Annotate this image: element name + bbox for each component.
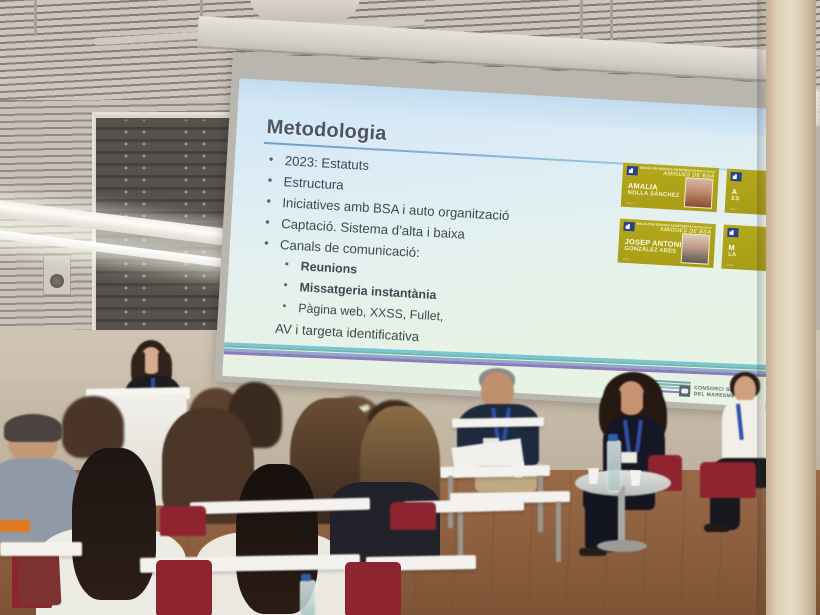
badge-last-name: NOLLA SÁNCHEZ (627, 189, 679, 198)
member-badge: BADALONA SERVEIS ASSISTENCIALS PROGRAMA … (618, 219, 716, 268)
badge-year: 2023 (626, 201, 633, 205)
chair-mid (390, 502, 436, 530)
chair-attendee (700, 462, 756, 498)
slide-bullet-list: 2023: EstatutsEstructuraIniciatives amb … (255, 150, 595, 358)
badge-portrait (681, 233, 711, 265)
badge-portrait (684, 177, 714, 209)
bsa-logo-icon (623, 222, 634, 232)
audience-water-bottle (300, 580, 316, 615)
ceiling-hanger (610, 0, 613, 40)
table-base (597, 540, 647, 552)
structural-column (766, 0, 816, 615)
head (734, 376, 756, 403)
orange-pencil-case (0, 520, 30, 532)
audience-member-front (330, 430, 440, 550)
bsa-logo-icon (627, 166, 638, 176)
bsa-logo-icon (727, 228, 738, 238)
shoe (704, 524, 730, 532)
hair (72, 448, 156, 600)
chair-front (156, 560, 212, 615)
chair-front (345, 562, 401, 615)
desk-front (0, 542, 82, 556)
projection-screen: Metodologia 2023: EstatutsEstructuraInic… (214, 52, 792, 414)
badge-year: 2023 (730, 207, 737, 211)
water-bottle (607, 440, 621, 492)
member-badge: BADALONA SERVEIS ASSISTENCIALS PROGRAMA … (621, 163, 719, 212)
desk (440, 465, 550, 478)
conference-room-photo: Metodologia 2023: EstatutsEstructuraInic… (0, 0, 820, 615)
desk (452, 417, 544, 428)
badge-card (621, 452, 637, 463)
badge-year: 2023 (623, 257, 630, 261)
badge-last-name: LA (728, 251, 736, 257)
bsa-logo-icon (730, 172, 741, 182)
ceiling-hanger (34, 0, 37, 36)
wall-speaker-icon (43, 255, 71, 295)
head (617, 381, 645, 415)
slide-title: Metodologia (266, 116, 387, 146)
desk-leg (538, 476, 543, 532)
ceiling-vent-icon (250, 0, 360, 22)
table-stem (618, 486, 625, 548)
slide-canvas: Metodologia 2023: EstatutsEstructuraInic… (222, 78, 782, 407)
desk-leg (556, 502, 561, 562)
audience-bottle-cap (301, 574, 311, 581)
bottle-cap (608, 434, 618, 441)
badge-last-name: ES (731, 195, 739, 201)
hair (4, 414, 62, 442)
badge-year: 2023 (726, 263, 733, 267)
chair-mid (160, 506, 206, 536)
